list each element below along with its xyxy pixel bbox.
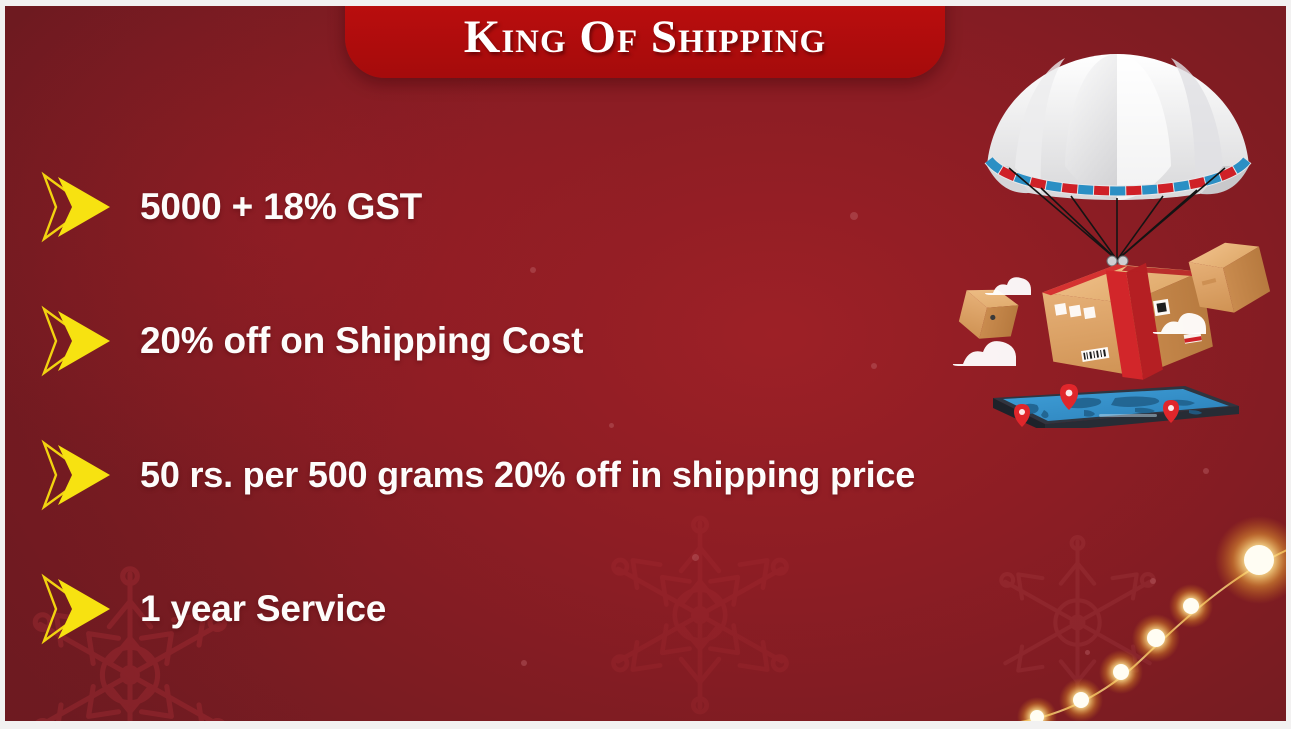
offer-label: 50 rs. per 500 grams 20% off in shipping…: [140, 454, 915, 496]
page-title: King of Shipping: [464, 10, 826, 78]
list-item[interactable]: 5000 + 18% GST: [40, 140, 1230, 274]
frame-edge-left: [0, 0, 5, 729]
offer-label: 5000 + 18% GST: [140, 186, 422, 228]
list-item[interactable]: 50 rs. per 500 grams 20% off in shipping…: [40, 408, 1230, 542]
offer-label: 20% off on Shipping Cost: [140, 320, 583, 362]
frame-edge-top: [0, 0, 1291, 6]
frame-edge-right: [1286, 0, 1291, 729]
double-chevron-right-icon: [40, 573, 118, 645]
banner-title-plate: King of Shipping: [345, 0, 945, 78]
double-chevron-right-icon: [40, 439, 118, 511]
offer-label: 1 year Service: [140, 588, 386, 630]
frame-edge-bottom: [0, 721, 1291, 729]
list-item[interactable]: 20% off on Shipping Cost: [40, 274, 1230, 408]
list-item[interactable]: 1 year Service: [40, 542, 1230, 676]
offer-list: 5000 + 18% GST 20% off on Shipping Cost …: [40, 140, 1230, 676]
double-chevron-right-icon: [40, 171, 118, 243]
promo-banner: King of Shipping: [0, 0, 1291, 729]
double-chevron-right-icon: [40, 305, 118, 377]
